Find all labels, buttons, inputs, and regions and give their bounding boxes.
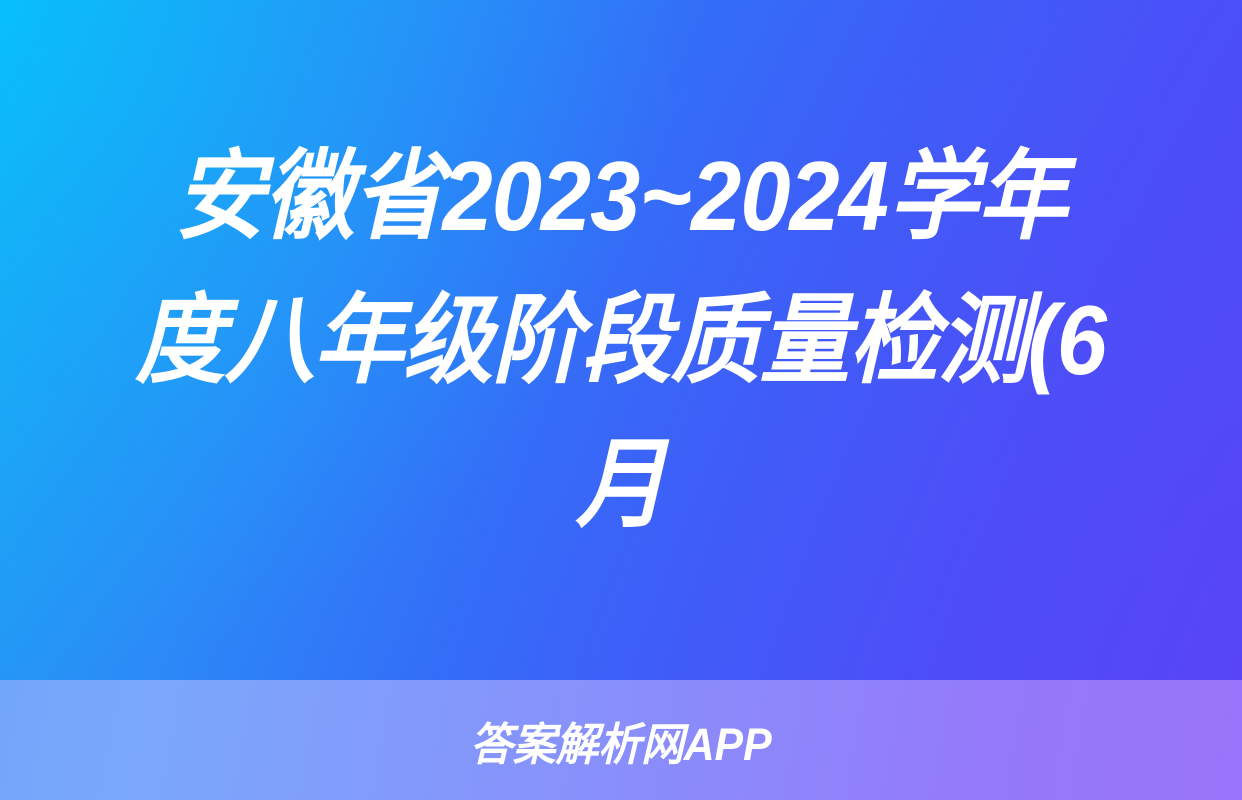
exam-title-line-3: 月 bbox=[576, 412, 665, 556]
exam-title-block: 安徽省2023~2024学年 度八年级阶段质量检测(6 月 bbox=[0, 0, 1242, 680]
watermark-bar: 答案解析网APP bbox=[0, 680, 1242, 800]
app-watermark-label: 答案解析网APP bbox=[470, 708, 772, 773]
title-card-screen: 安徽省2023~2024学年 度八年级阶段质量检测(6 月 答案解析网APP bbox=[0, 0, 1242, 800]
exam-title-line-1: 安徽省2023~2024学年 bbox=[175, 124, 1067, 268]
exam-title-line-2: 度八年级阶段质量检测(6 bbox=[136, 268, 1107, 412]
